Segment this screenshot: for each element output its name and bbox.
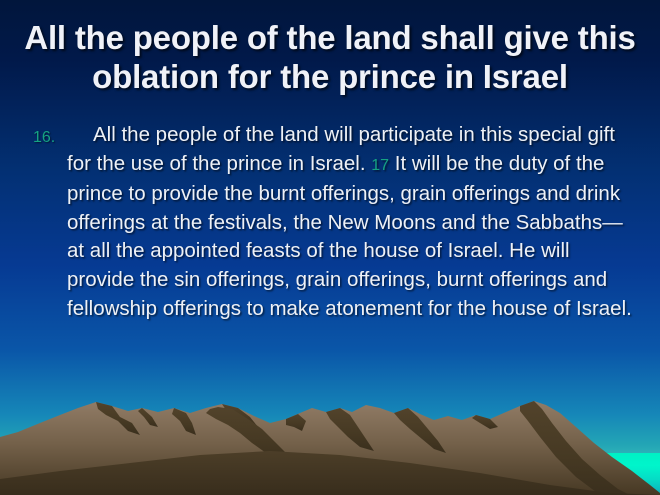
verse-text-part-2: It will be the duty of the prince to pro… [67,152,632,320]
slide-title: All the people of the land shall give th… [0,18,660,96]
mountain-range-illustration [0,375,660,495]
verse-number-17: 17 [371,157,389,174]
slide-body: 16. All the people of the land will part… [33,121,633,323]
verse-number-16: 16. [33,124,55,153]
presentation-slide: All the people of the land shall give th… [0,0,660,495]
verse-body-text: All the people of the land will particip… [67,121,633,323]
